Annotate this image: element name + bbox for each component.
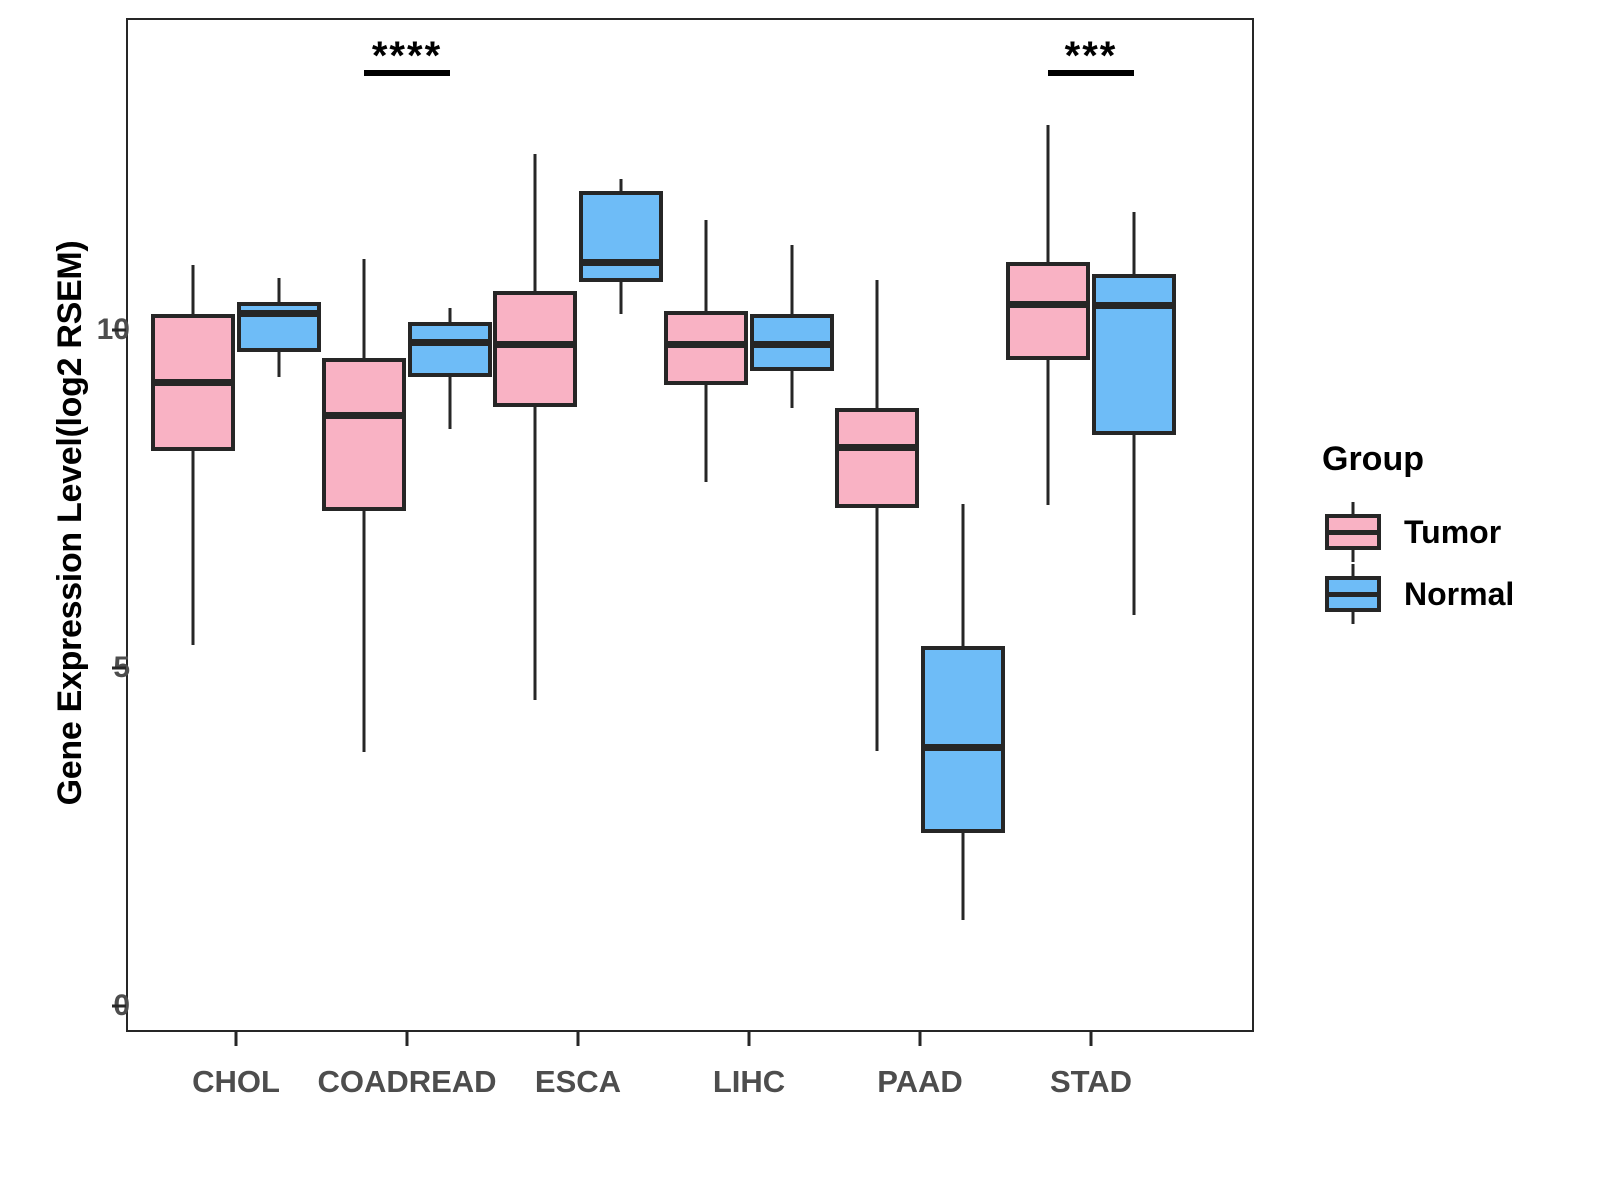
significance-stars-stad: *** (1065, 36, 1118, 76)
box-esca-tumor (493, 291, 577, 407)
chart-root: Gene Expression Level(log2 RSEM) 0510CHO… (0, 0, 1600, 1200)
x-tick-mark (235, 1032, 238, 1046)
legend-title: Group (1322, 440, 1572, 479)
y-tick-mark (112, 1005, 126, 1008)
y-tick-mark (112, 667, 126, 670)
median-coadread-normal (408, 339, 492, 346)
x-tick-label-chol: CHOL (192, 1064, 280, 1100)
x-tick-mark (1090, 1032, 1093, 1046)
legend-label-tumor: Tumor (1404, 514, 1501, 551)
box-paad-normal (921, 646, 1005, 833)
legend-item-normal[interactable]: Normal (1322, 563, 1572, 625)
x-tick-mark (919, 1032, 922, 1046)
legend: Group TumorNormal (1322, 440, 1572, 625)
legend-key-tumor-icon (1322, 501, 1384, 563)
legend-item-tumor[interactable]: Tumor (1322, 501, 1572, 563)
whisker-paad-tumor (876, 280, 879, 751)
x-tick-mark (577, 1032, 580, 1046)
box-stad-tumor (1006, 262, 1090, 360)
median-chol-tumor (151, 379, 235, 386)
median-paad-normal (921, 744, 1005, 751)
box-coadread-tumor (322, 358, 406, 511)
legend-label-normal: Normal (1404, 576, 1514, 613)
y-axis-title: Gene Expression Level(log2 RSEM) (48, 16, 92, 1030)
median-paad-tumor (835, 444, 919, 451)
x-tick-label-esca: ESCA (535, 1064, 621, 1100)
legend-key-normal-icon (1322, 563, 1384, 625)
x-tick-label-paad: PAAD (877, 1064, 963, 1100)
box-paad-tumor (835, 408, 919, 508)
plot-panel (126, 18, 1254, 1032)
whisker-esca-tumor (534, 154, 537, 700)
x-tick-label-lihc: LIHC (713, 1064, 785, 1100)
median-coadread-tumor (322, 412, 406, 419)
box-stad-normal (1092, 274, 1176, 435)
box-esca-normal (579, 191, 663, 282)
box-coadread-normal (408, 322, 492, 377)
x-tick-label-stad: STAD (1050, 1064, 1132, 1100)
median-stad-tumor (1006, 301, 1090, 308)
median-lihc-normal (750, 341, 834, 348)
y-tick-mark (112, 329, 126, 332)
median-stad-normal (1092, 302, 1176, 309)
x-tick-mark (406, 1032, 409, 1046)
median-lihc-tumor (664, 341, 748, 348)
x-tick-label-coadread: COADREAD (317, 1064, 496, 1100)
significance-stars-coadread: **** (372, 36, 442, 76)
median-esca-normal (579, 259, 663, 266)
box-lihc-tumor (664, 311, 748, 385)
median-chol-normal (237, 310, 321, 317)
median-esca-tumor (493, 341, 577, 348)
legend-entries: TumorNormal (1322, 501, 1572, 625)
x-tick-mark (748, 1032, 751, 1046)
